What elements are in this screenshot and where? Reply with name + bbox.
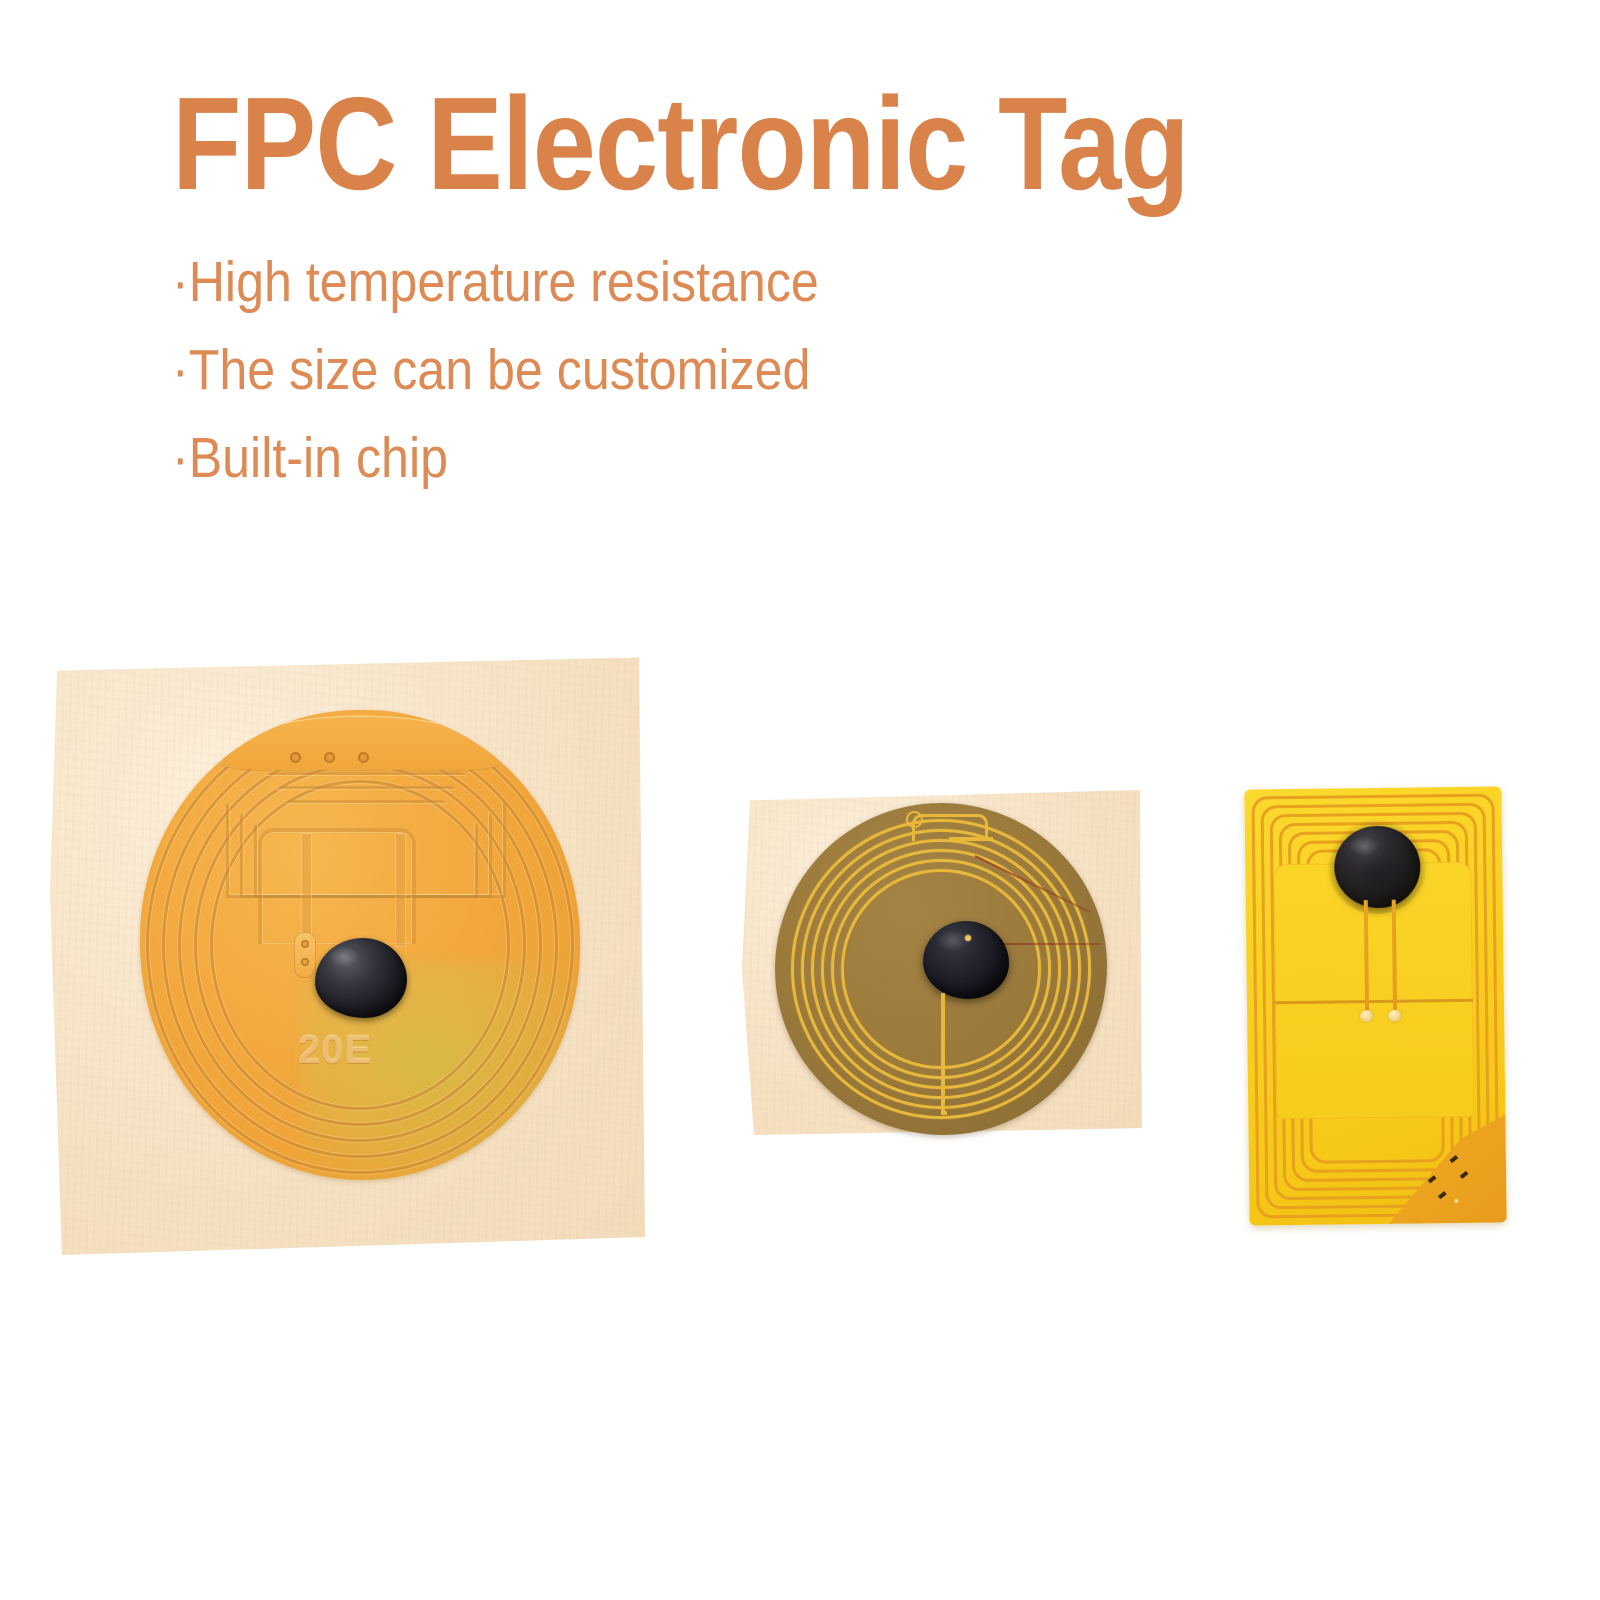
page-title: FPC Electronic Tag <box>172 78 1290 210</box>
feature-label-1: The size can be customized <box>189 338 811 402</box>
bullet-icon: · <box>172 250 189 314</box>
pad-via-1 <box>301 940 309 948</box>
feature-item-2: ·Built-in chip <box>172 430 1316 487</box>
inner-trace-loop <box>258 828 416 944</box>
fpc-card-rect <box>1244 786 1506 1225</box>
bond-pad <box>294 932 316 978</box>
chip-feed-trace <box>941 993 945 1115</box>
coil-end-loop <box>906 811 923 828</box>
chip-trace-left <box>302 834 311 944</box>
via-hole-2 <box>324 752 335 763</box>
fpc-disc-large: 20E <box>140 710 580 1180</box>
fpc-disc-medium <box>775 803 1107 1135</box>
chip-epoxy-blob <box>1334 825 1421 908</box>
trace-break-2 <box>1450 1155 1459 1163</box>
product-photo-area: 20E <box>0 600 1600 1360</box>
feature-label-2: Built-in chip <box>189 426 448 490</box>
feature-label-0: High temperature resistance <box>189 250 819 314</box>
chip-leg-pad-right <box>1388 1010 1401 1022</box>
chip-feed-trace-foot <box>941 1111 947 1115</box>
feature-list: ·High temperature resistance ·The size c… <box>172 254 1472 487</box>
chip-leg-pad-left <box>1360 1010 1373 1022</box>
trace-break-3 <box>1460 1171 1469 1179</box>
feature-item-0: ·High temperature resistance <box>172 254 1316 311</box>
coil-crossover-bridge <box>949 837 993 841</box>
bullet-icon: · <box>172 338 189 402</box>
trace-break-5 <box>1438 1191 1447 1199</box>
pad-via-2 <box>301 958 309 966</box>
chip-trace-right <box>396 834 405 946</box>
tag-marking-label: 20E <box>298 1028 372 1073</box>
feature-item-1: ·The size can be customized <box>172 342 1316 399</box>
trace-break-4 <box>1428 1175 1437 1183</box>
header-text-block: FPC Electronic Tag ·High temperature res… <box>172 78 1472 518</box>
chip-epoxy-blob <box>315 938 407 1018</box>
chip-epoxy-blob <box>923 921 1009 999</box>
via-hole-3 <box>358 752 369 763</box>
solder-speck-2 <box>1454 1199 1458 1203</box>
chip-bond-dot <box>965 935 971 941</box>
via-hole-1 <box>290 752 301 763</box>
bullet-icon: · <box>172 426 189 490</box>
